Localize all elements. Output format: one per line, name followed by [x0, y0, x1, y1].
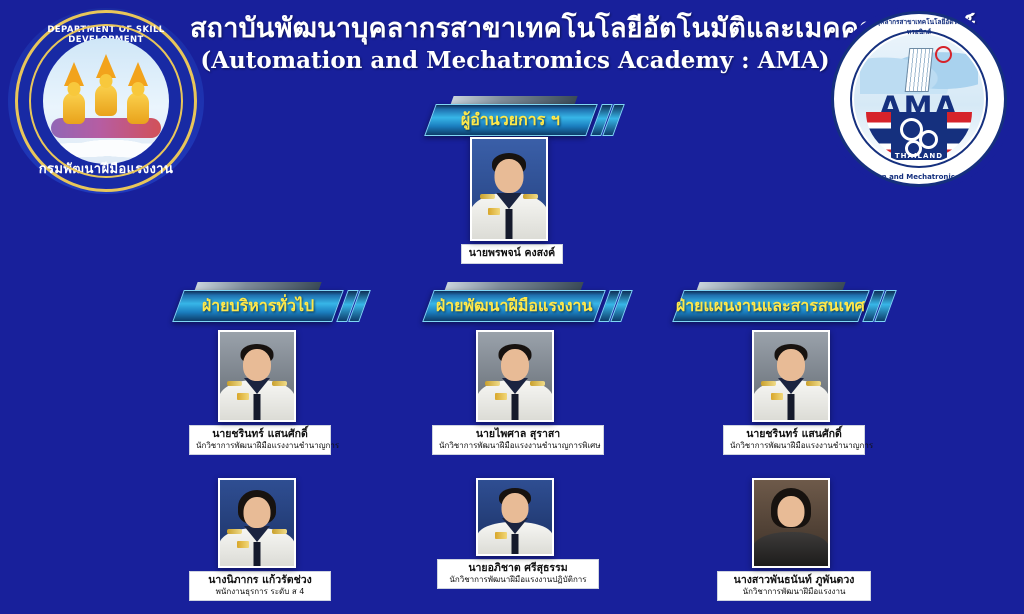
planning-1-caption: นายชรินทร์ แสนศักดิ์ นักวิชาการพัฒนาฝีมื…	[723, 425, 865, 455]
ama-flag-label: THAILAND	[854, 152, 984, 160]
banner-department-planning-label: ฝ่ายแผนงานและสารสนเทศ	[676, 294, 865, 319]
banner-department-planning[interactable]: ฝ่ายแผนงานและสารสนเทศ	[672, 290, 870, 322]
ama-arc-bottom-text: Automation and Mechatronics Academy	[834, 173, 1004, 181]
development-1-name: นายไพศาล สุราสา	[439, 428, 597, 441]
admin-2-photo	[218, 478, 296, 568]
development-1-role: นักวิชาการพัฒนาฝีมือแรงงานชำนาญการพิเศษ	[439, 441, 597, 451]
person-card-development-2[interactable]: นายอภิชาต ศรีสุธรรม นักวิชาการพัฒนาฝีมือ…	[476, 478, 599, 589]
dsd-emblem-artwork	[43, 38, 169, 164]
planning-2-photo	[752, 478, 830, 568]
director-name: นายพรพจน์ คงสงค์	[468, 247, 556, 260]
department-of-skill-development-seal-icon: DEPARTMENT OF SKILL DEVELOPMENT กรมพัฒนา…	[8, 8, 204, 194]
person-card-director[interactable]: นายพรพจน์ คงสงค์	[470, 137, 563, 264]
planning-2-role: นักวิชาการพัฒนาฝีมือแรงงาน	[724, 587, 864, 597]
admin-1-role: นักวิชาการพัฒนาฝีมือแรงงานชำนาญการ	[196, 441, 324, 451]
director-photo	[470, 137, 548, 241]
banner-department-admin-label: ฝ่ายบริหารทั่วไป	[202, 294, 314, 319]
dsd-arc-top-text: DEPARTMENT OF SKILL DEVELOPMENT	[18, 25, 194, 45]
planning-1-name: นายชรินทร์ แสนศักดิ์	[730, 428, 858, 441]
ama-logo-icon: สถาบันพัฒนาบุคลากรสาขาเทคโนโลยีอัตโนมัติ…	[824, 6, 1014, 192]
person-card-planning-1[interactable]: นายชรินทร์ แสนศักดิ์ นักวิชาการพัฒนาฝีมื…	[752, 330, 865, 455]
admin-1-photo	[218, 330, 296, 422]
person-card-admin-1[interactable]: นายชรินทร์ แสนศักดิ์ นักวิชาการพัฒนาฝีมื…	[218, 330, 331, 455]
page-title: สถาบันพัฒนาบุคลากรสาขาเทคโนโลยีอัตโนมัติ…	[190, 14, 840, 74]
page-title-thai: สถาบันพัฒนาบุคลากรสาขาเทคโนโลยีอัตโนมัติ…	[190, 14, 840, 44]
admin-2-caption: นางนิภากร แก้วรัตช่วง พนักงานธุรการ ระดั…	[189, 571, 331, 601]
banner-department-development[interactable]: ฝ่ายพัฒนาฝีมือแรงงาน	[422, 290, 606, 322]
planning-1-photo	[752, 330, 830, 422]
development-2-role: นักวิชาการพัฒนาฝีมือแรงงานปฏิบัติการ	[444, 575, 592, 585]
development-2-photo	[476, 478, 554, 556]
person-card-development-1[interactable]: นายไพศาล สุราสา นักวิชาการพัฒนาฝีมือแรงง…	[476, 330, 604, 455]
banner-director-label: ผู้อำนวยการ ฯ	[461, 108, 560, 133]
development-1-photo	[476, 330, 554, 422]
development-2-name: นายอภิชาต ศรีสุธรรม	[444, 562, 592, 575]
admin-1-caption: นายชรินทร์ แสนศักดิ์ นักวิชาการพัฒนาฝีมื…	[189, 425, 331, 455]
development-2-caption: นายอภิชาต ศรีสุธรรม นักวิชาการพัฒนาฝีมือ…	[437, 559, 599, 589]
banner-department-admin[interactable]: ฝ่ายบริหารทั่วไป	[172, 290, 344, 322]
planning-1-role: นักวิชาการพัฒนาฝีมือแรงงานชำนาญการ	[730, 441, 858, 451]
admin-2-role: พนักงานธุรการ ระดับ ส 4	[196, 587, 324, 597]
planning-2-name: นางสาวพันธนันท์ ภูพันดวง	[724, 574, 864, 587]
dsd-arc-bottom-text: กรมพัฒนาฝีมือแรงงาน	[18, 158, 194, 179]
person-card-admin-2[interactable]: นางนิภากร แก้วรัตช่วง พนักงานธุรการ ระดั…	[218, 478, 331, 601]
admin-2-name: นางนิภากร แก้วรัตช่วง	[196, 574, 324, 587]
person-card-planning-2[interactable]: นางสาวพันธนันท์ ภูพันดวง นักวิชาการพัฒนา…	[752, 478, 871, 601]
planning-2-caption: นางสาวพันธนันท์ ภูพันดวง นักวิชาการพัฒนา…	[717, 571, 871, 601]
org-chart-canvas: DEPARTMENT OF SKILL DEVELOPMENT กรมพัฒนา…	[0, 0, 1024, 614]
development-1-caption: นายไพศาล สุราสา นักวิชาการพัฒนาฝีมือแรงง…	[432, 425, 604, 455]
banner-department-development-label: ฝ่ายพัฒนาฝีมือแรงงาน	[436, 294, 593, 319]
page-title-english: (Automation and Mechatromics Academy : A…	[190, 48, 840, 74]
banner-director[interactable]: ผู้อำนวยการ ฯ	[424, 104, 598, 136]
admin-1-name: นายชรินทร์ แสนศักดิ์	[196, 428, 324, 441]
director-caption: นายพรพจน์ คงสงค์	[461, 244, 563, 264]
